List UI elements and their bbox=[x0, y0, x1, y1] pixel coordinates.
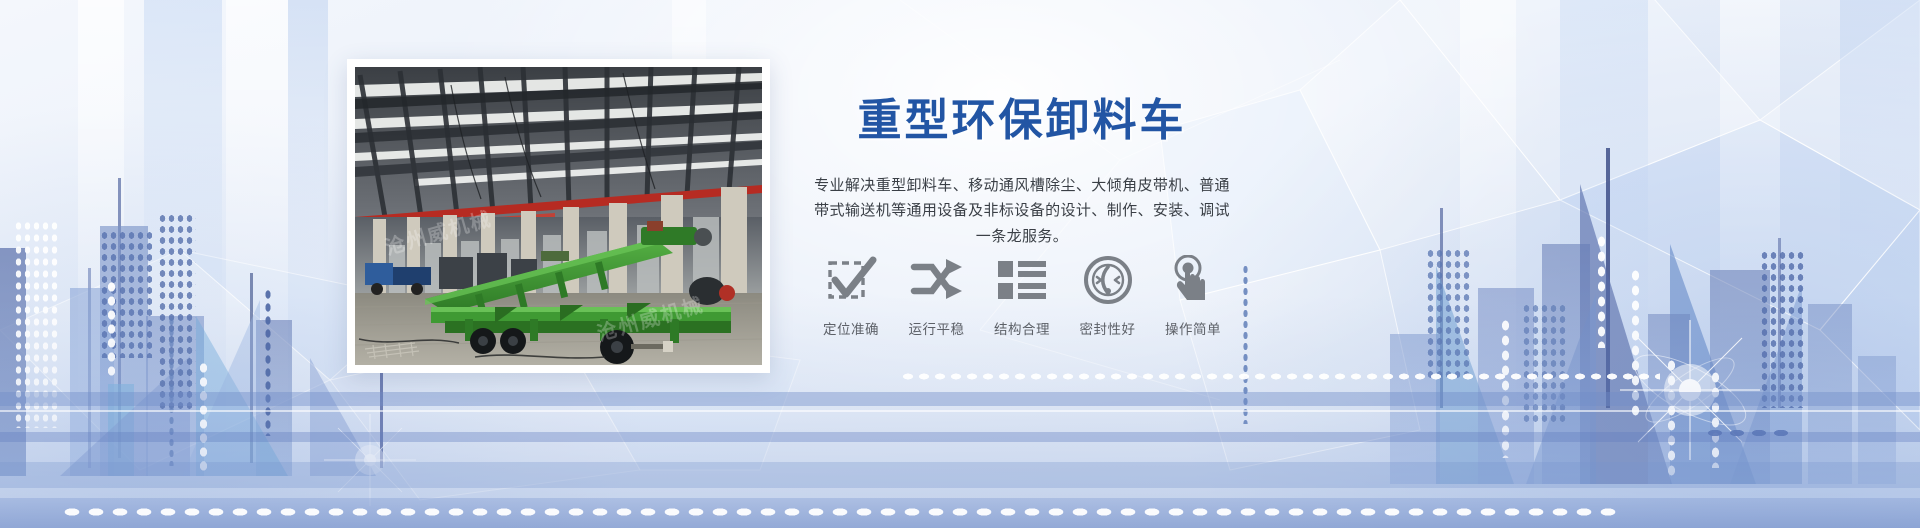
rail-2 bbox=[0, 432, 1920, 442]
rail-highlight bbox=[0, 410, 1920, 412]
feature-label: 运行平稳 bbox=[909, 318, 965, 338]
dotted-strip-left bbox=[168, 316, 175, 466]
page-title: 重型环保卸料车 bbox=[812, 96, 1232, 147]
feature-label: 密封性好 bbox=[1080, 318, 1136, 338]
feature-label: 结构合理 bbox=[994, 318, 1050, 338]
dot-row-lower bbox=[60, 506, 1620, 518]
product-photo-card[interactable]: 沧州威机械 沧州威机械 bbox=[347, 59, 770, 373]
light-burst-right bbox=[1600, 300, 1780, 480]
feature-list: 定位准确 运行平稳 bbox=[812, 252, 1232, 338]
seal-circle-icon bbox=[1083, 252, 1133, 308]
light-burst-left bbox=[310, 400, 430, 520]
checkbox-check-icon bbox=[825, 252, 877, 308]
banner-description: 专业解决重型卸料车、移动通风槽除尘、大倾角皮带机、普通带式输送机等通用设备及非标… bbox=[812, 173, 1232, 250]
hero-banner: 沧州威机械 沧州威机械 重型环保卸料车 专业解决重型卸料车、移动通风槽除尘、大倾… bbox=[0, 0, 1920, 528]
feature-item-structure[interactable]: 结构合理 bbox=[983, 252, 1061, 338]
shuffle-arrows-icon bbox=[910, 252, 964, 308]
dot-row-upper bbox=[900, 372, 1660, 381]
feature-item-positioning[interactable]: 定位准确 bbox=[812, 252, 890, 338]
banner-content: 重型环保卸料车 专业解决重型卸料车、移动通风槽除尘、大倾角皮带机、普通带式输送机… bbox=[812, 96, 1232, 250]
rail-1 bbox=[0, 392, 1920, 406]
dotted-strip-mid bbox=[1242, 264, 1249, 424]
feature-item-smooth-operation[interactable]: 运行平稳 bbox=[898, 252, 976, 338]
square-cluster bbox=[1704, 428, 1794, 438]
product-photo: 沧州威机械 沧州威机械 bbox=[355, 67, 762, 365]
rail-4 bbox=[0, 498, 1920, 528]
list-blocks-icon bbox=[998, 252, 1046, 308]
feature-label: 定位准确 bbox=[823, 318, 879, 338]
touch-hand-icon bbox=[1169, 252, 1217, 308]
feature-label: 操作简单 bbox=[1165, 318, 1221, 338]
feature-item-easy-operation[interactable]: 操作简单 bbox=[1154, 252, 1232, 338]
feature-item-sealing[interactable]: 密封性好 bbox=[1069, 252, 1147, 338]
skyline-right bbox=[1330, 108, 1920, 528]
rail-3 bbox=[0, 462, 1920, 488]
